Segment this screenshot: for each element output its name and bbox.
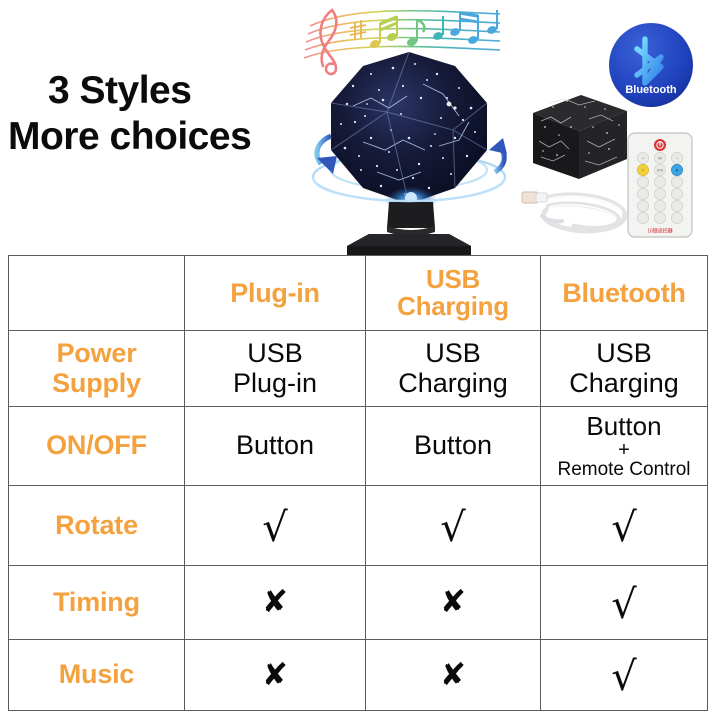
row-label-line1: Power (56, 338, 136, 368)
cell-onoff-bluetooth: Button + Remote Control (541, 407, 708, 486)
cell-line1: USB (596, 338, 652, 368)
header-usb-line2: Charging (397, 291, 509, 321)
cell-timing-usb: ✘ (366, 566, 541, 640)
table-header-row: Plug-in USB Charging Bluetooth (9, 256, 708, 331)
row-label-timing: Timing (9, 566, 185, 640)
table-row: ON/OFF Button Button Button + Remote Con… (9, 407, 708, 486)
check-mark: √ (611, 508, 637, 548)
row-label-line2: Supply (52, 368, 141, 398)
header-cell-plugin: Plug-in (185, 256, 366, 331)
headline-line-1: 3 Styles (0, 68, 310, 114)
header-cell-usb-charging: USB Charging (366, 256, 541, 331)
row-label-onoff: ON/OFF (9, 407, 185, 486)
cell-plus: + (543, 440, 705, 460)
headline-line-2: More choices (0, 114, 310, 160)
cell-line2: Remote Control (543, 460, 705, 481)
svg-text:SYS: SYS (657, 168, 663, 172)
cell-line2: Plug-in (233, 368, 317, 398)
check-mark: √ (611, 657, 637, 697)
usb-cable (512, 176, 640, 242)
cell-line2: Charging (569, 368, 679, 398)
table-row: Music ✘ ✘ √ (9, 640, 708, 711)
cell-music-bluetooth: √ (541, 640, 708, 711)
cell-line1: Button (586, 411, 661, 441)
check-mark: √ (262, 508, 288, 548)
cell-music-plugin: ✘ (185, 640, 366, 711)
page-title: 3 Styles More choices (0, 68, 310, 160)
header-cell-empty (9, 256, 185, 331)
svg-text:B: B (676, 168, 679, 173)
star-projector-lamp (303, 46, 515, 255)
cross-mark: ✘ (262, 587, 288, 618)
cross-mark: ✘ (262, 660, 288, 691)
cell-onoff-usb: Button (366, 407, 541, 486)
cell-timing-bluetooth: √ (541, 566, 708, 640)
cell-timing-plugin: ✘ (185, 566, 366, 640)
table-row: Timing ✘ ✘ √ (9, 566, 708, 640)
cell-power-plugin: USB Plug-in (185, 331, 366, 407)
row-label-power-supply: Power Supply (9, 331, 185, 407)
row-label-music: Music (9, 640, 185, 711)
cell-rotate-bluetooth: √ (541, 486, 708, 566)
cell-rotate-usb: √ (366, 486, 541, 566)
cross-mark: ✘ (440, 587, 466, 618)
table-row: Power Supply USB Plug-in USB Charging US… (9, 331, 708, 407)
cell-line2: Charging (398, 368, 508, 398)
cell-power-usb: USB Charging (366, 331, 541, 407)
bluetooth-badge-label: Bluetooth (625, 84, 677, 96)
check-mark: √ (611, 585, 637, 625)
table-row: Rotate √ √ √ (9, 486, 708, 566)
header-usb-line1: USB (426, 264, 480, 294)
cell-onoff-plugin: Button (185, 407, 366, 486)
check-mark: √ (440, 508, 466, 548)
cross-mark: ✘ (440, 660, 466, 691)
cell-rotate-plugin: √ (185, 486, 366, 566)
hero-banner: 3 Styles More choices (0, 0, 715, 255)
remote-footer-text: 16键遥控器 (647, 228, 673, 235)
remote-control: + W − Y SYS B (626, 131, 694, 239)
bluetooth-badge: Bluetooth (607, 21, 695, 109)
cell-line1: USB (425, 338, 481, 368)
cell-line1: USB (247, 338, 303, 368)
svg-text:Y: Y (642, 168, 645, 173)
comparison-table: Plug-in USB Charging Bluetooth Power Sup… (8, 255, 708, 711)
cell-power-bluetooth: USB Charging (541, 331, 708, 407)
header-cell-bluetooth: Bluetooth (541, 256, 708, 331)
cell-music-usb: ✘ (366, 640, 541, 711)
svg-text:W: W (658, 156, 662, 161)
row-label-rotate: Rotate (9, 486, 185, 566)
